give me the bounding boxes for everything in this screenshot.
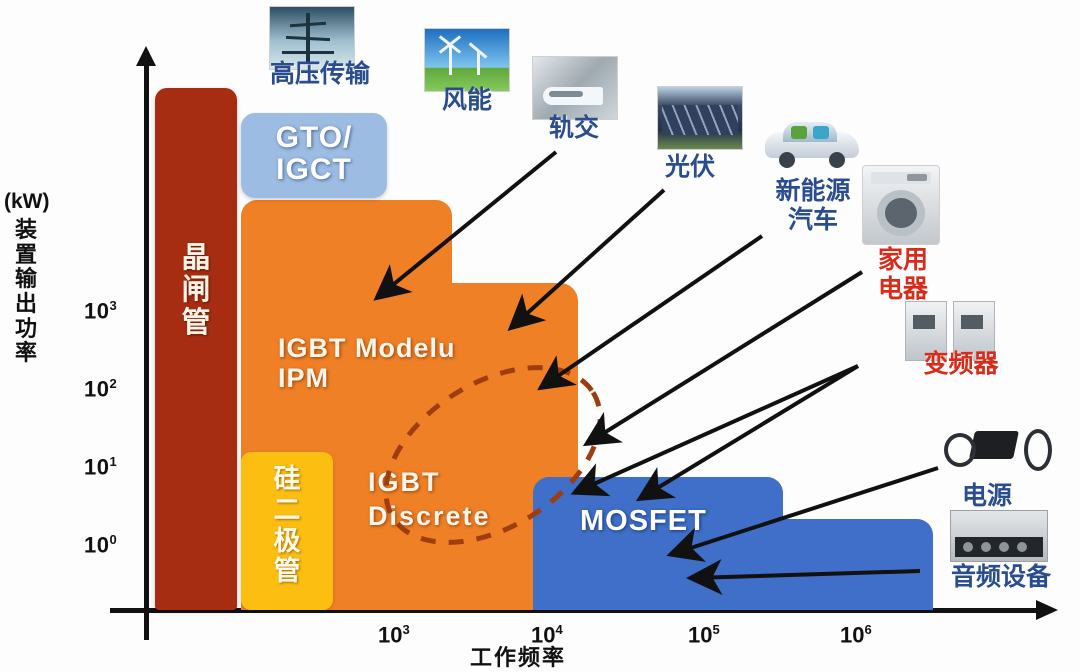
region-silicon-diode-label: 硅 二 极 管 [241,464,333,587]
region-gto-igct-label: GTO/ IGCT [241,122,387,187]
power-adapter-icon [938,423,1054,475]
y-axis-arrow-icon [136,46,156,66]
electric-car-icon [757,110,867,180]
x-tick-1e3: 103 [378,622,410,648]
region-mosfet-label: MOSFET [580,505,707,538]
app-label-power-supply: 电源 [947,482,1027,511]
app-label-hv-transmission: 高压传输 [255,60,385,89]
high-speed-train-icon [532,56,618,120]
region-thyristor-label: 晶 闸 管 [155,242,237,339]
x-tick-1e6: 106 [840,622,872,648]
region-thyristor: 晶 闸 管 [155,88,237,610]
solar-panel-icon [657,86,743,150]
region-gto-igct: GTO/ IGCT [241,113,387,198]
arrow-vfd-to-mosfet [576,366,858,492]
y-tick-1000: 103 [84,298,117,324]
y-tick-1: 100 [84,532,117,558]
wind-turbine-icon [424,28,510,92]
app-label-wind: 风能 [431,86,503,115]
y-axis-line [144,62,149,640]
app-label-audio: 音频设备 [936,563,1066,592]
x-tick-1e4: 104 [531,622,563,648]
y-axis-unit: (kW) [4,190,50,214]
arrow-home-to-bnd [588,272,862,443]
y-axis-title: 装置输出功率 [12,218,40,366]
audio-device-icon [950,510,1048,562]
x-tick-1e5: 105 [688,622,720,648]
app-label-pv: 光伏 [654,153,726,182]
y-tick-10: 101 [84,454,117,480]
chart-canvas: (kW) 装置输出功率 工作频率 103 102 101 100 103 104… [0,0,1080,671]
region-silicon-diode: 硅 二 极 管 [241,452,333,610]
washing-machine-icon [862,165,940,245]
x-axis-arrow-icon [1036,600,1058,620]
region-igbt-module-label: IGBT Modelu IPM [278,333,528,393]
app-label-ev: 新能源 汽车 [758,177,868,235]
app-label-vfd: 变频器 [906,350,1016,379]
y-tick-100: 102 [84,376,117,402]
app-label-rail: 轨交 [538,114,610,143]
app-label-home-appliance: 家用 电器 [868,246,938,304]
